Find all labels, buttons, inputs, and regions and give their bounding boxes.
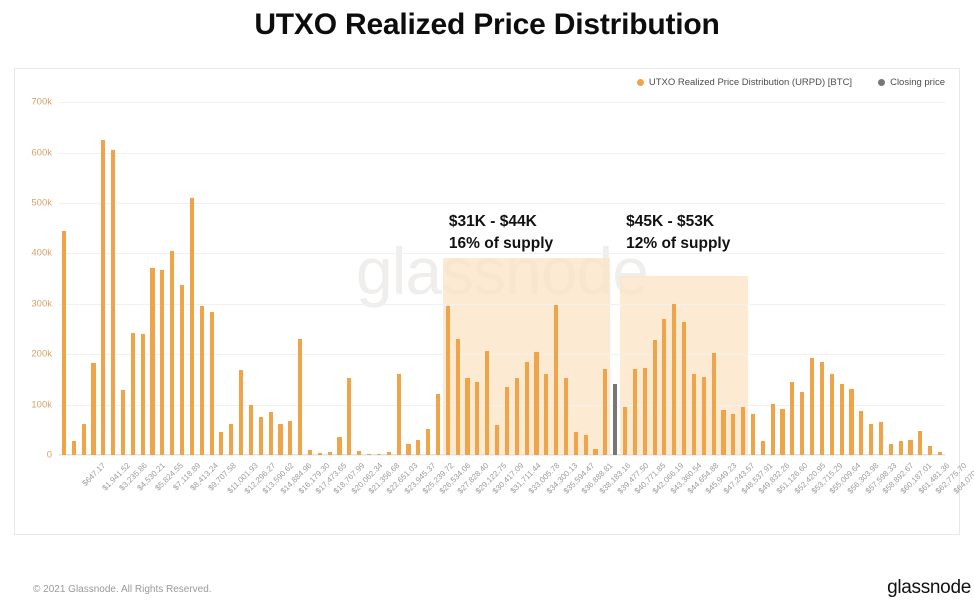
urpd-bar[interactable] [239,370,243,455]
urpd-bar[interactable] [150,268,154,455]
legend-dot-icon [637,79,644,86]
annotation-range-1: $31K - $44K 16% of supply [449,211,553,255]
urpd-bar[interactable] [603,369,607,455]
urpd-bar[interactable] [387,452,391,455]
urpd-bar[interactable] [210,312,214,455]
urpd-bar[interactable] [101,140,105,455]
legend-dot-icon [878,79,885,86]
urpd-bar[interactable] [879,422,883,455]
urpd-bar[interactable] [751,414,755,455]
urpd-bar[interactable] [456,339,460,455]
urpd-bar[interactable] [495,425,499,455]
urpd-bar[interactable] [938,452,942,455]
y-axis-tick-label: 0 [47,450,52,461]
urpd-bar[interactable] [859,411,863,455]
urpd-bar[interactable] [111,150,115,455]
annotation-range-2-line1: $45K - $53K [626,211,730,233]
urpd-bar[interactable] [377,454,381,456]
gridline [59,455,945,456]
y-axis-tick-label: 100k [31,399,52,410]
urpd-bar[interactable] [308,450,312,455]
urpd-bar[interactable] [446,306,450,455]
urpd-bar[interactable] [672,304,676,455]
urpd-bar[interactable] [830,374,834,455]
y-axis-tick-label: 700k [31,97,52,108]
urpd-bar[interactable] [849,389,853,455]
urpd-bar[interactable] [505,387,509,455]
urpd-bar[interactable] [367,454,371,455]
urpd-bar[interactable] [643,368,647,455]
urpd-bar[interactable] [800,392,804,455]
urpd-bar[interactable] [899,441,903,455]
urpd-bar[interactable] [91,363,95,455]
urpd-bar[interactable] [653,340,657,455]
urpd-bar[interactable] [278,424,282,455]
page-title: UTXO Realized Price Distribution [0,8,974,42]
urpd-bar[interactable] [525,362,529,455]
urpd-bar[interactable] [121,390,125,455]
urpd-bar[interactable] [180,285,184,455]
urpd-bar[interactable] [82,424,86,455]
urpd-bar[interactable] [702,377,706,455]
brand-logo: glassnode [887,577,971,599]
urpd-bar[interactable] [259,417,263,455]
urpd-bar[interactable] [406,444,410,455]
urpd-bar[interactable] [328,452,332,455]
urpd-bar[interactable] [810,358,814,455]
urpd-bar[interactable] [200,306,204,455]
urpd-bar[interactable] [515,378,519,455]
closing-price-bar[interactable] [613,384,617,455]
copyright-text: © 2021 Glassnode. All Rights Reserved. [33,584,212,595]
annotation-range-2: $45K - $53K 12% of supply [626,211,730,255]
urpd-bar[interactable] [357,451,361,455]
y-axis-tick-label: 600k [31,147,52,158]
urpd-bar[interactable] [544,374,548,455]
urpd-bar[interactable] [692,374,696,455]
urpd-bar[interactable] [229,424,233,455]
annotation-range-1-line1: $31K - $44K [449,211,553,233]
urpd-bar[interactable] [574,432,578,455]
urpd-bar[interactable] [160,270,164,456]
urpd-bar[interactable] [219,432,223,455]
urpd-bar[interactable] [554,305,558,455]
annotation-range-2-line2: 12% of supply [626,233,730,255]
urpd-bar[interactable] [337,437,341,455]
urpd-bar[interactable] [840,384,844,455]
chart-card: UTXO Realized Price Distribution (URPD) … [14,68,960,535]
x-axis-labels: $647.17$1,941.52$3,235.86$4,530.21$5,824… [59,461,945,523]
urpd-bar[interactable] [318,453,322,455]
urpd-bar[interactable] [869,424,873,455]
urpd-bar[interactable] [62,231,66,455]
urpd-bar[interactable] [298,339,302,455]
urpd-bar[interactable] [269,412,273,455]
urpd-bar[interactable] [485,351,489,455]
y-axis-tick-label: 400k [31,248,52,259]
urpd-bar[interactable] [790,382,794,455]
urpd-bar[interactable] [593,449,597,455]
urpd-bar[interactable] [623,407,627,455]
urpd-bar[interactable] [918,431,922,455]
urpd-bar[interactable] [249,405,253,455]
urpd-bar[interactable] [426,429,430,455]
urpd-bar[interactable] [721,410,725,455]
urpd-bar[interactable] [741,407,745,455]
y-axis-tick-label: 300k [31,298,52,309]
urpd-bar[interactable] [436,394,440,456]
urpd-bar[interactable] [190,198,194,455]
urpd-bar[interactable] [908,440,912,455]
urpd-bar[interactable] [682,322,686,455]
urpd-bar[interactable] [347,378,351,455]
urpd-bar[interactable] [170,251,174,455]
y-axis-tick-label: 200k [31,349,52,360]
urpd-bar[interactable] [475,382,479,455]
urpd-bar[interactable] [584,435,588,455]
urpd-bar[interactable] [141,334,145,455]
urpd-bar[interactable] [712,353,716,455]
urpd-bar[interactable] [633,369,637,455]
annotation-range-1-line2: 16% of supply [449,233,553,255]
urpd-bar[interactable] [397,374,401,455]
urpd-bar[interactable] [731,414,735,455]
urpd-bar[interactable] [771,404,775,455]
bar-series [59,87,945,455]
urpd-bar[interactable] [820,362,824,455]
urpd-bar[interactable] [780,409,784,455]
urpd-bar[interactable] [889,444,893,455]
urpd-bar[interactable] [465,378,469,455]
y-axis-tick-label: 500k [31,197,52,208]
urpd-bar[interactable] [928,446,932,455]
urpd-bar[interactable] [72,441,76,455]
urpd-bar[interactable] [416,440,420,455]
urpd-bar[interactable] [761,441,765,455]
urpd-bar[interactable] [534,352,538,455]
chart-page: UTXO Realized Price Distribution UTXO Re… [0,0,974,550]
urpd-bar[interactable] [564,378,568,455]
urpd-bar[interactable] [662,319,666,455]
plot-area: glassnode 0100k200k300k400k500k600k700k [59,87,945,455]
urpd-bar[interactable] [288,421,292,455]
urpd-bar[interactable] [131,333,135,455]
